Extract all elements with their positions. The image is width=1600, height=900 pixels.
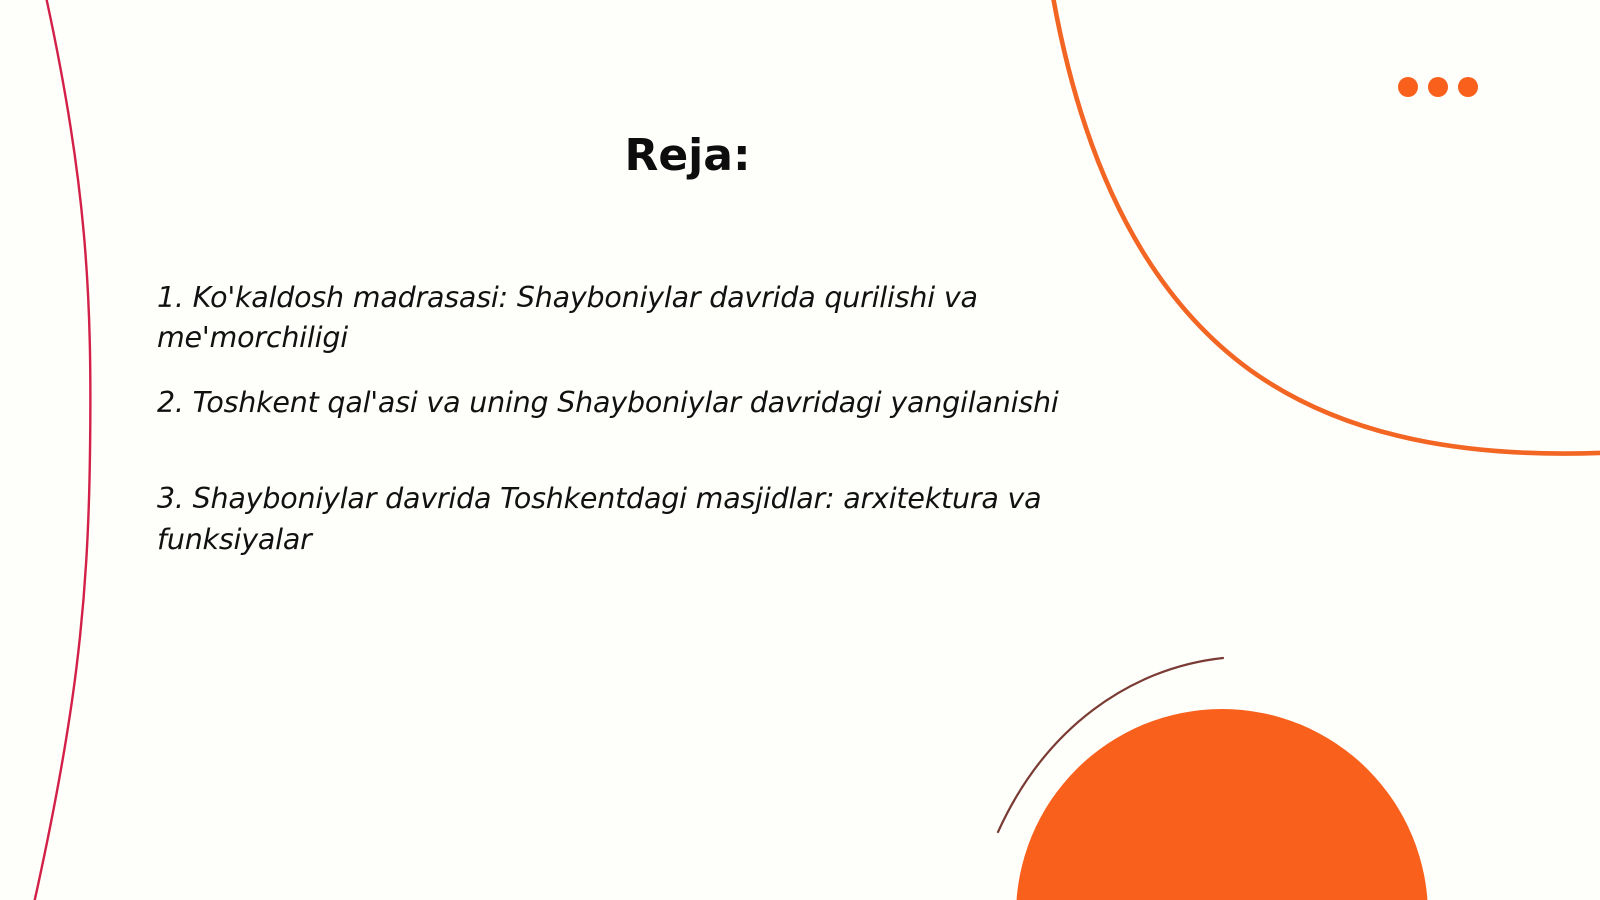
plan-item-1: 1. Ko'kaldosh madrasasi: Shayboniylar da… bbox=[157, 278, 1117, 359]
plan-list: 1. Ko'kaldosh madrasasi: Shayboniylar da… bbox=[157, 278, 1117, 560]
plan-item-3: 3. Shayboniylar davrida Toshkentdagi mas… bbox=[157, 479, 1117, 560]
slide-content: Reja: 1. Ko'kaldosh madrasasi: Shayboniy… bbox=[0, 0, 1600, 900]
slide-title: Reja: bbox=[0, 130, 1375, 181]
presentation-slide: Reja: 1. Ko'kaldosh madrasasi: Shayboniy… bbox=[0, 0, 1600, 900]
plan-item-2: 2. Toshkent qal'asi va uning Shayboniyla… bbox=[157, 383, 1117, 423]
